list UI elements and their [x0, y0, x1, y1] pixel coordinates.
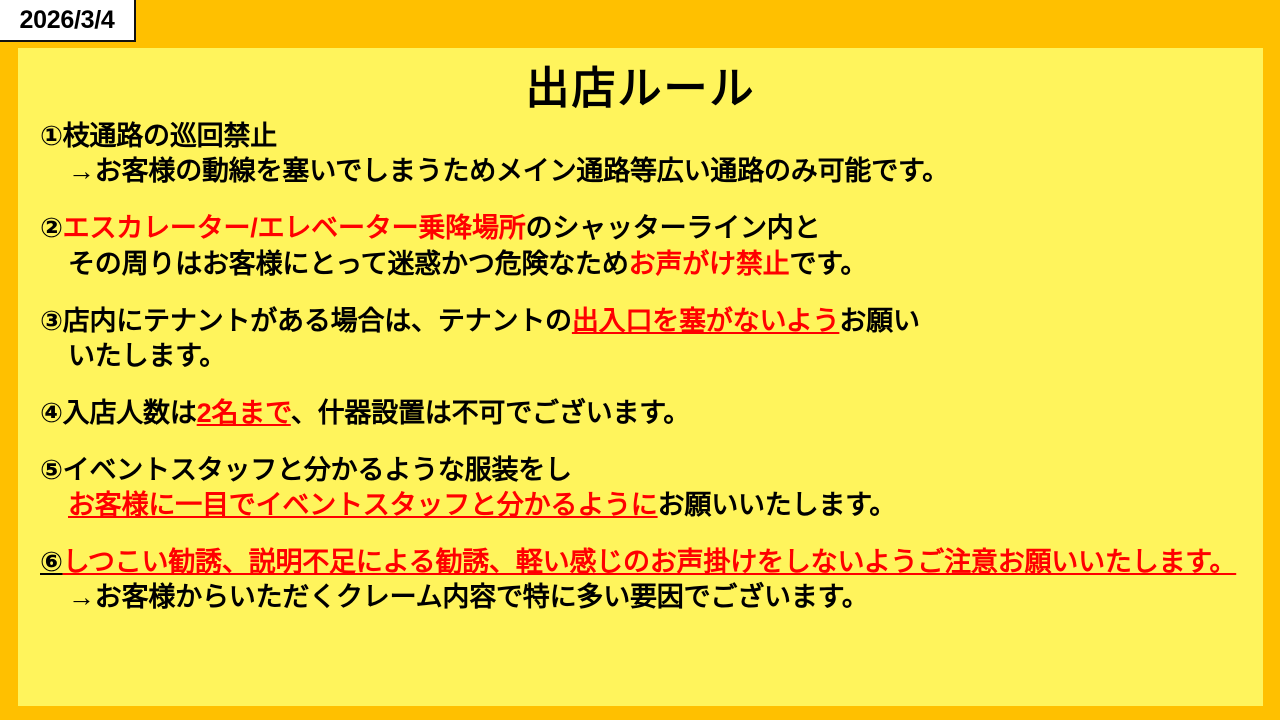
rule-text-segment: ③店内にテナントがある場合は、テナントの [40, 306, 572, 336]
page-title: 出店ルール [34, 64, 1247, 113]
rule-line: いたします。 [40, 339, 1247, 374]
rule-text-segment: お声がけ禁止 [629, 249, 790, 279]
rules-list: ①枝通路の巡回禁止→お客様の動線を塞いでしまうためメイン通路等広い通路のみ可能で… [34, 119, 1247, 615]
rule-text-segment: 出入口を塞がないよう [572, 306, 839, 336]
rule-line: ②エスカレーター/エレベーター乗降場所のシャッターライン内と [40, 211, 1247, 246]
rule-text-segment: エスカレーター/エレベーター乗降場所 [63, 213, 526, 243]
rules-panel: 出店ルール ①枝通路の巡回禁止→お客様の動線を塞いでしまうためメイン通路等広い通… [18, 48, 1263, 706]
rule-item: ③店内にテナントがある場合は、テナントの出入口を塞がないようお願いいたします。 [40, 304, 1247, 374]
rule-text-segment: ④入店人数は [40, 398, 197, 428]
date-badge-label: 2026/3/4 [20, 8, 115, 33]
rule-line: →お客様からいただくクレーム内容で特に多い要因でございます。 [40, 580, 1247, 615]
rule-line: →お客様の動線を塞いでしまうためメイン通路等広い通路のみ可能です。 [40, 154, 1247, 189]
rule-text-segment: →お客様の動線を塞いでしまうためメイン通路等広い通路のみ可能です。 [68, 156, 949, 186]
rule-text-segment: お願いいたします。 [658, 490, 897, 520]
rule-text-segment: →お客様からいただくクレーム内容で特に多い要因でございます。 [68, 582, 869, 612]
rule-item: ④入店人数は2名まで、什器設置は不可でございます。 [40, 396, 1247, 431]
rule-line: その周りはお客様にとって迷惑かつ危険なためお声がけ禁止です。 [40, 247, 1247, 282]
date-badge: 2026/3/4 [0, 0, 136, 42]
rule-text-segment: のシャッターライン内と [526, 213, 821, 243]
rule-line: ⑤イベントスタッフと分かるような服装をし [40, 453, 1247, 488]
rule-text-segment: その周りはお客様にとって迷惑かつ危険なため [68, 249, 629, 279]
rule-text-segment: お願い [839, 306, 919, 336]
rule-text-segment: ⑥ [40, 547, 63, 577]
rule-text-segment: 2名まで [197, 398, 291, 428]
rule-line: お客様に一目でイベントスタッフと分かるようにお願いいたします。 [40, 488, 1247, 523]
rule-text-segment: ①枝通路の巡回禁止 [40, 121, 277, 151]
slide-canvas: 2026/3/4 出店ルール ①枝通路の巡回禁止→お客様の動線を塞いでしまうため… [0, 0, 1280, 720]
rule-text-segment: ② [40, 213, 63, 243]
rule-text-segment: です。 [789, 249, 867, 279]
rule-line: ④入店人数は2名まで、什器設置は不可でございます。 [40, 396, 1247, 431]
rule-item: ②エスカレーター/エレベーター乗降場所のシャッターライン内とその周りはお客様にと… [40, 211, 1247, 281]
rule-line: ①枝通路の巡回禁止 [40, 119, 1247, 154]
rule-text-segment: ⑤イベントスタッフと分かるような服装をし [40, 455, 572, 485]
rule-text-segment: いたします。 [68, 341, 226, 371]
rule-line: ⑥しつこい勧誘、説明不足による勧誘、軽い感じのお声掛けをしないようご注意お願いい… [40, 545, 1247, 580]
rule-text-segment: お客様に一目でイベントスタッフと分かるように [68, 490, 658, 520]
rule-text-segment: しつこい勧誘、説明不足による勧誘、軽い感じのお声掛けをしないようご注意お願いいた… [63, 547, 1237, 577]
rule-item: ①枝通路の巡回禁止→お客様の動線を塞いでしまうためメイン通路等広い通路のみ可能で… [40, 119, 1247, 189]
rule-item: ⑤イベントスタッフと分かるような服装をしお客様に一目でイベントスタッフと分かるよ… [40, 453, 1247, 523]
rule-line: ③店内にテナントがある場合は、テナントの出入口を塞がないようお願い [40, 304, 1247, 339]
rule-item: ⑥しつこい勧誘、説明不足による勧誘、軽い感じのお声掛けをしないようご注意お願いい… [40, 545, 1247, 615]
rule-text-segment: 、什器設置は不可でございます。 [291, 398, 690, 428]
